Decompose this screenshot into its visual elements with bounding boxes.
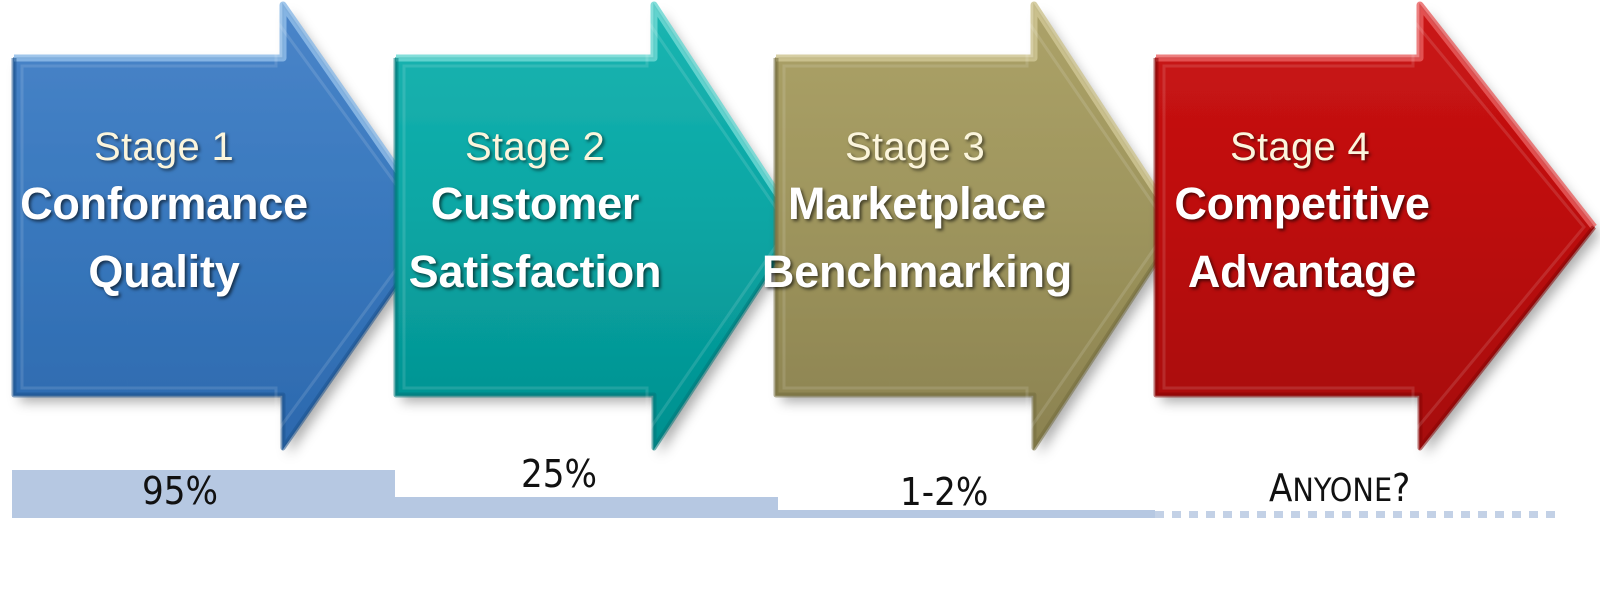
- funnel-band-stage-2: [395, 497, 778, 518]
- stage-arrow-4[interactable]: Stage 4 Competitive Advantage: [1142, 0, 1600, 460]
- stage-arrow-1[interactable]: Stage 1 Conformance Quality: [0, 0, 440, 460]
- funnel-label-4: ANYONE?: [1269, 466, 1410, 510]
- stage-arrow-3[interactable]: Stage 3 Marketplace Benchmarking: [762, 0, 1182, 460]
- stage-arrow-2[interactable]: Stage 2 Customer Satisfaction: [382, 0, 802, 460]
- funnel-label-2: 25%: [521, 452, 597, 496]
- arrow-shape-4: [1142, 0, 1600, 460]
- diagram-canvas: Stage 1 Conformance Quality Stage: [0, 0, 1600, 605]
- arrow-shape-1: [0, 0, 440, 460]
- funnel-band-stage-4-dotted: [1155, 511, 1560, 518]
- funnel-label-1: 95%: [142, 469, 218, 513]
- arrow-shape-3: [762, 0, 1182, 460]
- arrow-shape-2: [382, 0, 802, 460]
- funnel-label-3: 1-2%: [900, 470, 988, 514]
